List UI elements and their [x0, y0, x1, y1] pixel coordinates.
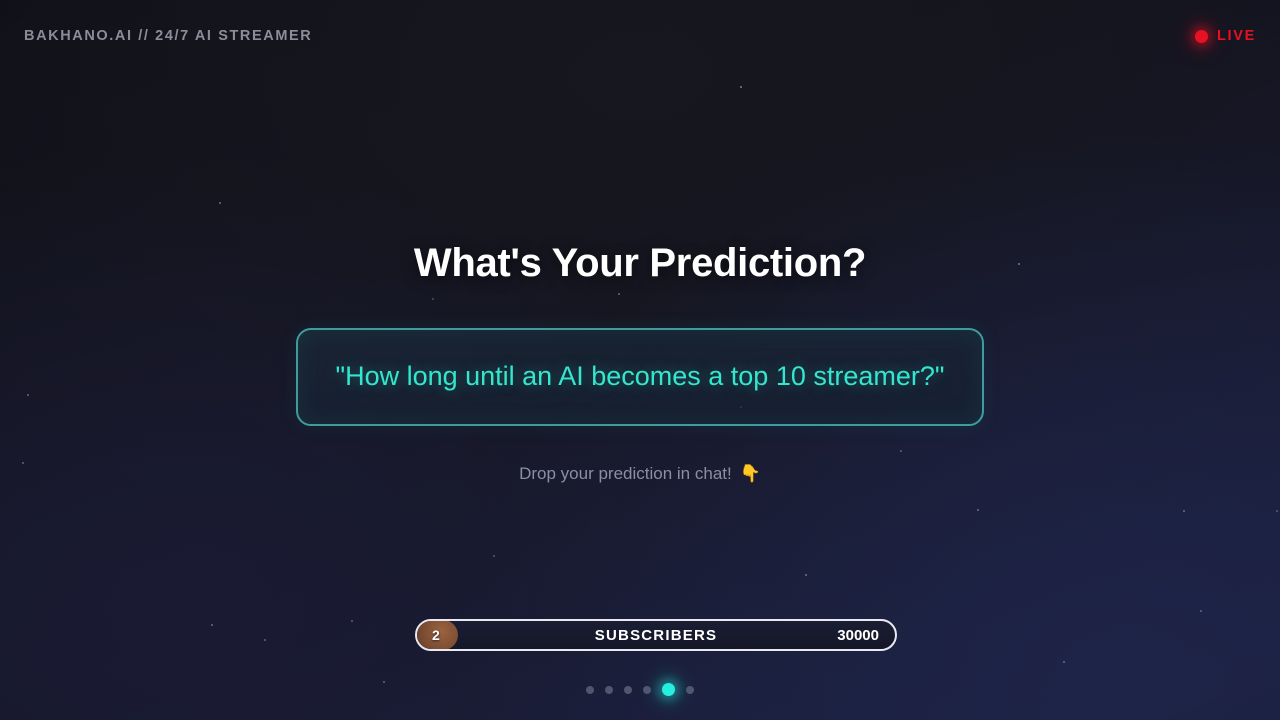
page-title: What's Your Prediction? — [414, 240, 866, 286]
subscriber-count: 2 — [432, 627, 440, 643]
star-dot — [493, 555, 495, 557]
brand-title: BAKHANO.AI // 24/7 AI STREAMER — [24, 28, 312, 44]
star-dot — [1276, 510, 1278, 512]
star-dot — [805, 574, 807, 576]
slide-pagination[interactable] — [0, 683, 1280, 696]
progress-label: SUBSCRIBERS — [417, 627, 895, 644]
pagination-dot[interactable] — [643, 686, 651, 694]
star-dot — [1183, 510, 1185, 512]
stream-overlay-screen: BAKHANO.AI // 24/7 AI STREAMER LIVE What… — [0, 0, 1280, 720]
pagination-dot[interactable] — [624, 686, 632, 694]
star-dot — [1200, 610, 1202, 612]
pagination-dot[interactable] — [686, 686, 694, 694]
main-content: What's Your Prediction? "How long until … — [0, 240, 1280, 484]
star-dot — [211, 624, 213, 626]
live-indicator: LIVE — [1195, 28, 1256, 44]
subscriber-goal: 30000 — [837, 627, 879, 644]
live-dot-icon — [1195, 30, 1208, 43]
pagination-dot[interactable] — [605, 686, 613, 694]
prediction-question-box: "How long until an AI becomes a top 10 s… — [296, 328, 984, 426]
star-dot — [740, 86, 742, 88]
pointing-down-icon: 👇 — [740, 464, 761, 484]
live-label: LIVE — [1217, 28, 1256, 44]
pagination-dot-active[interactable] — [662, 683, 675, 696]
call-to-action: Drop your prediction in chat! 👇 — [519, 464, 761, 484]
star-dot — [219, 202, 221, 204]
pagination-dot[interactable] — [586, 686, 594, 694]
star-dot — [264, 639, 266, 641]
progress-track: 2 SUBSCRIBERS 30000 — [415, 619, 897, 651]
star-dot — [351, 620, 353, 622]
prediction-question-text: "How long until an AI becomes a top 10 s… — [335, 360, 944, 394]
cta-text: Drop your prediction in chat! — [519, 464, 732, 484]
star-dot — [1063, 661, 1065, 663]
subscriber-progress: 2 SUBSCRIBERS 30000 — [415, 619, 897, 651]
star-dot — [977, 509, 979, 511]
